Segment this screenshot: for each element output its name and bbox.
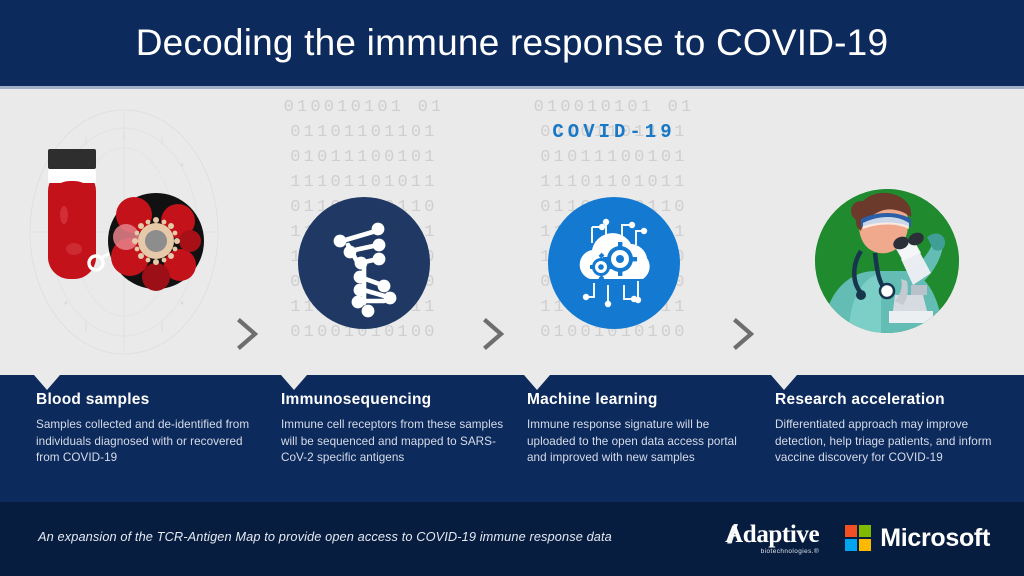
illustration-stage: 010010101 010110110110101011100101111011… <box>0 89 1024 375</box>
binary-row: 01011100101 <box>258 145 470 170</box>
caption-body: Differentiated approach may improve dete… <box>775 417 1015 467</box>
binary-row: 01011100101 <box>508 145 720 170</box>
microsoft-tiles-icon <box>845 525 871 551</box>
caption-body: Immune response signature will be upload… <box>527 417 759 467</box>
caption-heading: Research acceleration <box>775 391 1015 409</box>
caption-body: Samples collected and de-identified from… <box>36 417 266 467</box>
scientist-illustration-circle <box>815 189 959 333</box>
caption-body: Immune cell receptors from these samples… <box>281 417 511 467</box>
caption-research-acceleration: Research acceleration Differentiated app… <box>775 391 1015 467</box>
adaptive-wordmark: Adaptive <box>725 522 819 547</box>
illustration-immunosequencing: 010010101 010110110110101011100101111011… <box>258 89 470 375</box>
caption-heading: Machine learning <box>527 391 759 409</box>
page-title: Decoding the immune response to COVID-19 <box>0 22 1024 64</box>
ms-tile-green <box>859 525 871 537</box>
microscope-cells-view <box>108 193 204 291</box>
flow-arrow-1-icon <box>233 317 263 351</box>
binary-row: 010010101 01 <box>258 95 470 120</box>
caption-blood-samples: Blood samples Samples collected and de-i… <box>36 391 266 467</box>
illustration-machine-learning: 010010101 010110110110101011100101111011… <box>508 89 720 375</box>
cloud-gears-circuit-icon <box>548 197 680 329</box>
ms-tile-red <box>845 525 857 537</box>
microsoft-wordmark: Microsoft <box>880 524 990 553</box>
footer-tagline: An expansion of the TCR-Antigen Map to p… <box>38 529 612 544</box>
caption-heading: Immunosequencing <box>281 391 511 409</box>
dna-molecule-icon <box>298 197 430 329</box>
blood-vial-illustration <box>30 137 230 337</box>
dna-icon-circle <box>298 197 430 329</box>
caption-heading: Blood samples <box>36 391 266 409</box>
illustration-blood-samples <box>8 89 238 375</box>
binary-row: 01101101101 <box>258 120 470 145</box>
caption-machine-learning: Machine learning Immune response signatu… <box>527 391 759 467</box>
microsoft-logo: Microsoft <box>845 524 990 553</box>
scientist-at-microscope-icon <box>815 189 959 333</box>
flow-arrow-3-icon <box>729 317 759 351</box>
covid-19-label: COVID-19 <box>508 121 720 143</box>
header-banner: Decoding the immune response to COVID-19 <box>0 0 1024 88</box>
binary-row: 11101101011 <box>258 170 470 195</box>
ms-tile-yellow <box>859 539 871 551</box>
binary-row: 11101101011 <box>508 170 720 195</box>
footer-logos: Adaptive biotechnologies.® Microsoft <box>725 515 990 561</box>
caption-immunosequencing: Immunosequencing Immune cell receptors f… <box>281 391 511 467</box>
adaptive-biotechnologies-logo: Adaptive biotechnologies.® <box>725 522 819 555</box>
adaptive-subtitle: biotechnologies.® <box>725 548 819 555</box>
flow-arrow-2-icon <box>479 317 509 351</box>
cloud-icon-circle <box>548 197 680 329</box>
illustration-research-acceleration <box>758 89 1016 375</box>
infographic-page: Decoding the immune response to COVID-19 <box>0 0 1024 576</box>
ms-tile-blue <box>845 539 857 551</box>
binary-row: 010010101 01 <box>508 95 720 120</box>
